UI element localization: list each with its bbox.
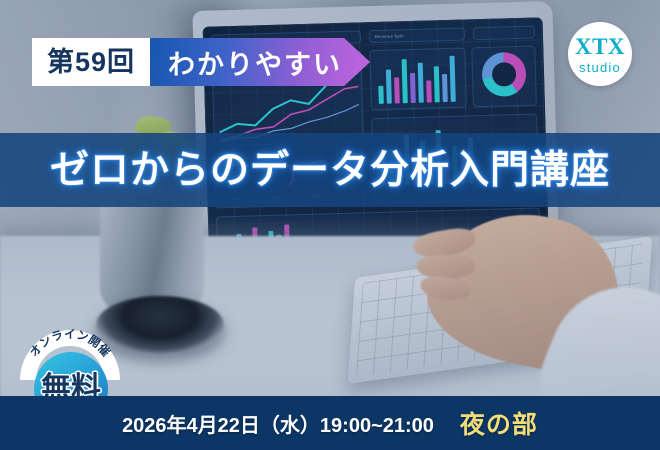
logo-main-text: XTX [575, 35, 625, 58]
title-band: ゼロからのデータ分析入門講座 [0, 133, 660, 207]
session-label: 夜の部 [460, 405, 538, 441]
event-datetime: 2026年4月22日（水）19:00~21:00 [122, 409, 434, 438]
page-title: ゼロからのデータ分析入門講座 [50, 151, 610, 190]
episode-number-label: 第59回 [32, 38, 150, 86]
highlight-tag-wrapper: わかりやすい [150, 38, 370, 86]
logo-sub-text: studio [579, 61, 621, 74]
highlight-tag-label: わかりやすい [150, 38, 370, 86]
xtx-studio-logo: XTX studio [568, 22, 632, 86]
footer-bar: 2026年4月22日（水）19:00~21:00 夜の部 [0, 396, 660, 450]
episode-tag-row: 第59回 わかりやすい [32, 38, 370, 86]
seminar-banner: Monthly Active Users Revenue Split [0, 0, 660, 450]
